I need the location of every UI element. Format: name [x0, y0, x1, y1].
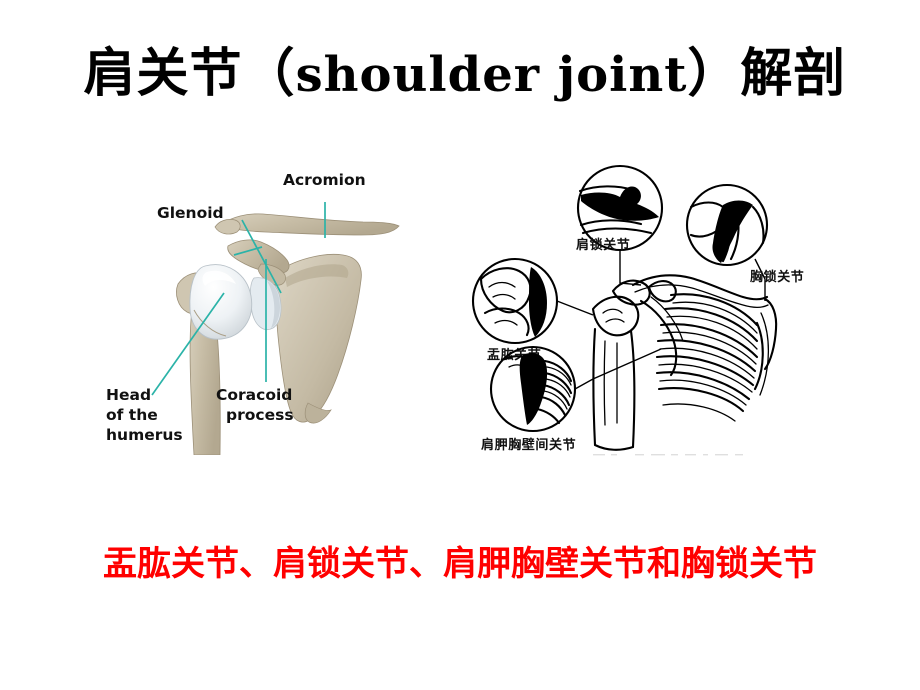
- humerus-shaft-bottom: [595, 445, 633, 450]
- humerus-tubercle: [603, 309, 624, 322]
- svg-text:process: process: [226, 406, 294, 424]
- svg-text:of the: of the: [106, 406, 158, 424]
- label-sternoclavicular: 胸锁关节: [750, 269, 804, 285]
- label-acromion: Acromion: [283, 171, 366, 189]
- svg-text:humerus: humerus: [106, 426, 183, 444]
- label-scapulothoracic: 肩胛胸壁间关节: [481, 437, 576, 453]
- svg-text:Coracoid: Coracoid: [216, 386, 292, 404]
- label-humeral-head: Head of the humerus: [106, 386, 183, 444]
- title-suffix-cn: ）解剖: [687, 44, 846, 104]
- slide-canvas: 肩关节（shoulder joint）解剖: [0, 0, 920, 690]
- scan-noise: [593, 454, 743, 455]
- title-english: shoulder joint: [296, 47, 688, 103]
- right-anatomy-figure: 肩锁关节 胸锁关节 盂肱关: [465, 163, 865, 463]
- svg-text:Head: Head: [106, 386, 151, 404]
- inset-glenohumeral: [473, 259, 557, 343]
- title-prefix-cn: 肩关节（: [84, 44, 296, 104]
- humerus-head-right: [593, 297, 638, 336]
- rib-cage: [657, 294, 768, 421]
- page-title: 肩关节（shoulder joint）解剖: [60, 42, 870, 107]
- label-coracoid-process: Coracoid process: [216, 386, 294, 424]
- callout-glenohumeral: [557, 301, 593, 315]
- label-acromioclavicular: 肩锁关节: [576, 237, 630, 253]
- label-glenoid: Glenoid: [157, 204, 224, 222]
- summary-caption: 盂肱关节、肩锁关节、肩胛胸壁关节和胸锁关节: [20, 543, 900, 585]
- humerus-inner-line-1: [604, 341, 605, 425]
- inset-sternoclavicular: [687, 185, 767, 265]
- inset-scapulothoracic: [491, 347, 575, 431]
- callout-scapulothoracic: [575, 349, 661, 389]
- scapula-right-edge: [651, 297, 683, 341]
- left-anatomy-figure: Acromion Glenoid Head of the humerus Cor…: [95, 160, 410, 455]
- humerus-shaft-right: [594, 329, 635, 447]
